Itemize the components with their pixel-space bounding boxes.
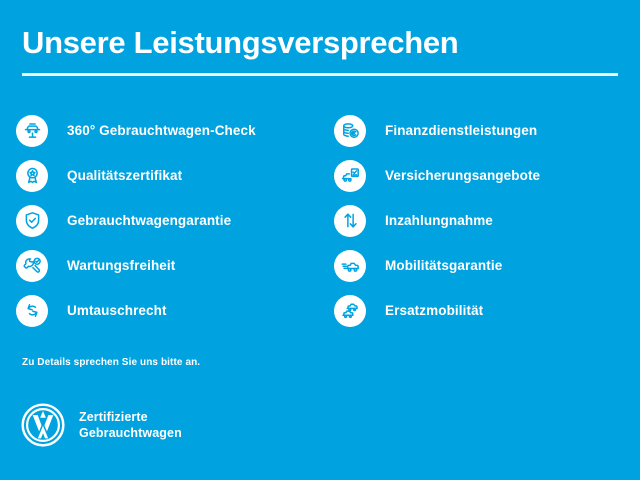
car-speed-icon [334,250,366,282]
car-inspection-lift-icon [16,115,48,147]
up-down-arrows-icon [334,205,366,237]
promise-slide: Unsere Leistungsversprechen [0,0,640,480]
shield-check-icon [16,205,48,237]
two-cars-icon [334,295,366,327]
feature-label: Umtauschrecht [67,303,167,318]
feature-label: Mobilitätsgarantie [385,258,502,273]
feature-item-gebrauchtwagen-check[interactable]: 360° Gebrauchtwagen-Check [16,108,320,153]
page-title: Unsere Leistungsversprechen [22,26,618,60]
feature-item-mobilitaetsgarantie[interactable]: Mobilitätsgarantie [334,243,640,288]
brand-text-line1: Zertifizierte [79,409,182,425]
car-document-icon [334,160,366,192]
feature-label: Qualitätszertifikat [67,168,182,183]
feature-item-finanzdienstleistungen[interactable]: Finanzdienstleistungen [334,108,640,153]
features-grid: 360° Gebrauchtwagen-Check Qualitätszerti… [0,108,640,333]
exchange-arrows-icon [16,295,48,327]
wrench-check-icon [16,250,48,282]
features-left-column: 360° Gebrauchtwagen-Check Qualitätszerti… [0,108,320,333]
feature-label: Ersatzmobilität [385,303,483,318]
title-divider [22,73,618,76]
coins-euro-icon [334,115,366,147]
brand-text: Zertifizierte Gebrauchtwagen [79,409,182,441]
feature-label: Wartungsfreiheit [67,258,175,273]
feature-label: Gebrauchtwagengarantie [67,213,231,228]
features-right-column: Finanzdienstleistungen Versicherungsange… [320,108,640,333]
feature-item-qualitaetszertifikat[interactable]: Qualitätszertifikat [16,153,320,198]
feature-label: Finanzdienstleistungen [385,123,537,138]
feature-label: 360° Gebrauchtwagen-Check [67,123,256,138]
feature-item-gebrauchtwagengarantie[interactable]: Gebrauchtwagengarantie [16,198,320,243]
feature-item-umtauschrecht[interactable]: Umtauschrecht [16,288,320,333]
feature-item-versicherungsangebote[interactable]: Versicherungsangebote [334,153,640,198]
feature-label: Versicherungsangebote [385,168,540,183]
award-medal-icon [16,160,48,192]
header: Unsere Leistungsversprechen [22,26,618,76]
feature-item-inzahlungnahme[interactable]: Inzahlungnahme [334,198,640,243]
feature-item-wartungsfreiheit[interactable]: Wartungsfreiheit [16,243,320,288]
brand-text-line2: Gebrauchtwagen [79,425,182,441]
feature-item-ersatzmobilitaet[interactable]: Ersatzmobilität [334,288,640,333]
brand-lockup: Zertifizierte Gebrauchtwagen [20,402,182,448]
footnote-text: Zu Details sprechen Sie uns bitte an. [22,357,200,368]
feature-label: Inzahlungnahme [385,213,493,228]
volkswagen-logo-icon [20,402,66,448]
